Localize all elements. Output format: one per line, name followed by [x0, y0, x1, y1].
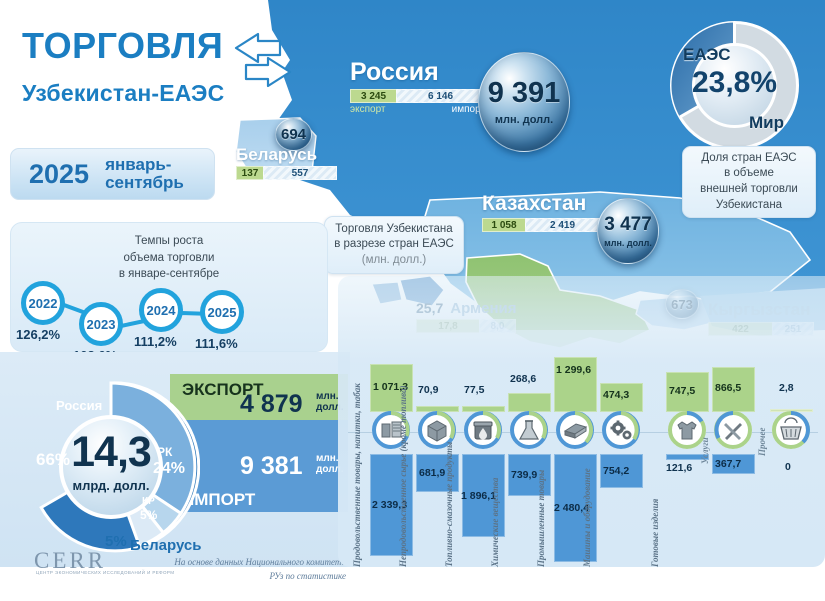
chart-label-5: Машины и оборудование — [582, 352, 592, 567]
export-label-russia: экспорт — [350, 104, 386, 115]
total-sphere-russia: 9 391 млн. долл. — [478, 52, 570, 152]
country-name-belarus: Беларусь — [236, 145, 337, 165]
country-share-donut-chart: Россия 66% РК 24% КР 5% 14,3 млрд. долл. — [22, 378, 200, 556]
growth-value-2022: 126,2% — [16, 327, 60, 342]
chart-export-value-2: 77,5 — [464, 384, 484, 396]
chart-label-3: Химические вещества — [490, 352, 500, 567]
page-title: ТОРГОВЛЯ — [22, 28, 223, 64]
chart-label-0: Продовольственные товары, напитки, табак — [352, 352, 362, 567]
import-bar-russia: 6 146 — [396, 89, 485, 103]
map-country-belarus: Беларусь 137 557 — [236, 145, 337, 180]
country-bars-kazakhstan: 1 058 2 419 — [482, 218, 600, 232]
export-bar-belarus: 137 — [236, 166, 263, 180]
services-tools-icon — [714, 411, 752, 449]
date-period: январь- сентябрь — [105, 156, 184, 192]
share-pct-belarus: 5% — [105, 533, 127, 550]
country-name-russia: Россия — [350, 58, 485, 87]
chart-import-value-8: 0 — [785, 461, 791, 473]
chart-label-8: Прочее — [757, 404, 767, 456]
map-country-russia: Россия 3 245 6 146 экспорт импорт — [350, 58, 485, 115]
export-bar-russia: 3 245 — [350, 89, 396, 103]
export-bar-kazakhstan: 1 058 — [482, 218, 525, 232]
left-right-arrows-icon — [228, 30, 300, 99]
share-label-belarus: Беларусь — [130, 537, 202, 554]
callout-trade-breakdown: Торговля Узбекистана в разрезе стран ЕАЭ… — [324, 216, 464, 274]
eaeu-share-donut-chart: ЕАЭС Мир 23,8% — [667, 18, 802, 153]
chart-import-value-5: 754,2 — [603, 465, 629, 477]
share-center-unit: млрд. долл. — [22, 478, 200, 493]
machinery-gears-icon — [602, 411, 640, 449]
import-bar-belarus: 557 — [263, 166, 337, 180]
data-source-note: На основе данных Национального комитета … — [166, 556, 346, 583]
chart-import-value-7: 367,7 — [715, 458, 741, 470]
date-year: 2025 — [29, 159, 89, 190]
growth-value-2024: 111,2% — [134, 334, 177, 349]
chart-import-value-1: 681,9 — [419, 467, 445, 479]
country-name-kazakhstan: Казахстан — [482, 192, 600, 216]
import-bar-kazakhstan: 2 419 — [525, 218, 600, 232]
chart-export-value-8: 2,8 — [779, 382, 794, 394]
import-block-value: 9 381 — [240, 452, 303, 481]
chart-import-value-3: 739,9 — [511, 469, 537, 481]
chart-export-value-5: 474,3 — [603, 389, 629, 401]
date-range-pill: 2025 январь- сентябрь — [10, 148, 215, 200]
growth-value-2025: 111,6% — [195, 336, 238, 351]
eaeu-segment-label: ЕАЭС — [683, 45, 731, 65]
growth-node-2023: 2023 — [79, 302, 123, 346]
total-sphere-kazakhstan: 3 477 млн. долл. — [597, 198, 659, 264]
infographic-root: ТОРГОВЛЯ Узбекистан-ЕАЭС 2025 январь- се… — [0, 0, 825, 601]
chart-export-value-3: 268,6 — [510, 373, 536, 385]
cerr-logo-subtitle: ЦЕНТР ЭКОНОМИЧЕСКИХ ИССЛЕДОВАНИЙ И РЕФОР… — [36, 570, 174, 575]
page-subtitle: Узбекистан-ЕАЭС — [22, 80, 224, 107]
map-country-kazakhstan: Казахстан 1 058 2 419 — [482, 192, 600, 232]
growth-node-2024: 2024 — [139, 288, 183, 332]
other-basket-icon — [772, 411, 810, 449]
chart-export-value-6: 747,5 — [669, 385, 695, 397]
share-pct-kyrgyzstan: 5% — [140, 508, 157, 522]
eaeu-rest-label: Мир — [749, 113, 784, 133]
country-bars-belarus: 137 557 — [236, 166, 337, 180]
chart-export-value-7: 866,5 — [715, 382, 741, 394]
share-label-kyrgyzstan: КР — [142, 496, 155, 507]
share-label-russia: Россия — [56, 398, 102, 413]
country-bars-russia: 3 245 6 146 — [350, 89, 485, 103]
chart-export-value-1: 70,9 — [418, 384, 438, 396]
chart-label-2: Топливно-смазочные продукты — [444, 352, 454, 567]
export-block-value: 4 879 — [240, 390, 303, 419]
eaeu-share-value: 23,8% — [667, 66, 802, 100]
chart-import-value-6: 121,6 — [666, 462, 692, 474]
growth-node-2025: 2025 — [200, 290, 244, 334]
chart-label-7: Услуги — [700, 404, 710, 464]
chart-label-4: Промышленные товары — [536, 352, 546, 567]
growth-node-2022: 2022 — [21, 281, 65, 325]
callout-eaeu-share: Доля стран ЕАЭС в объеме внешней торговл… — [682, 146, 816, 218]
chart-label-6: Готовые изделия — [650, 352, 660, 567]
chart-label-1: Непродовольственное сырье (кроме топлива… — [398, 352, 408, 567]
share-center-value: 14,3 — [22, 428, 200, 477]
